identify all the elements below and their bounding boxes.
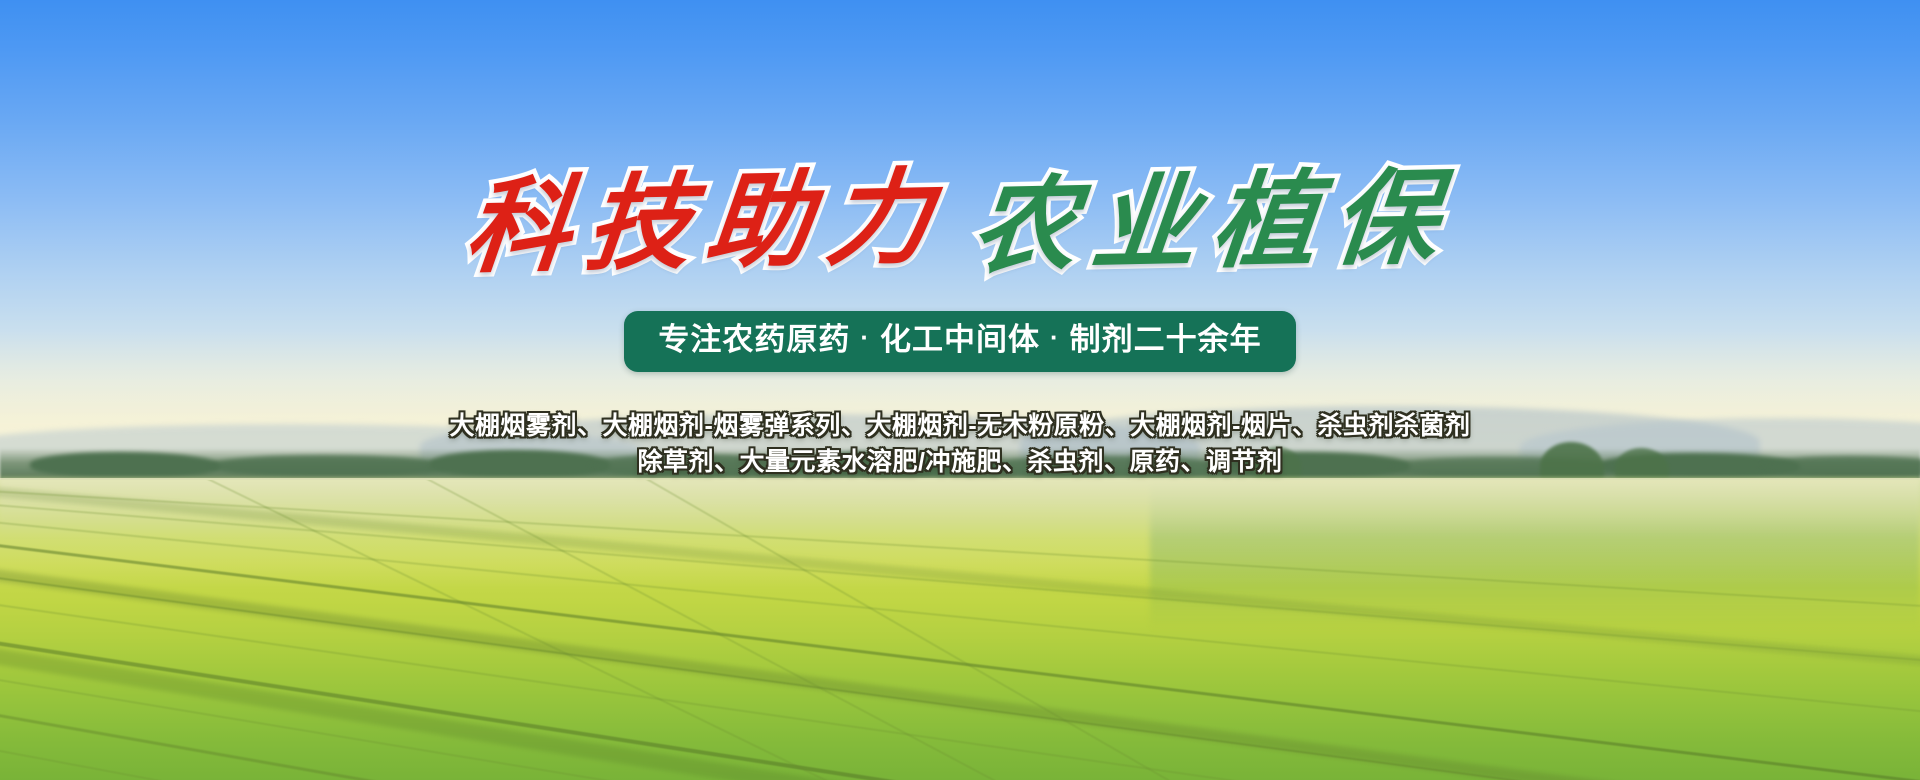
product-line: 除草剂、大量元素水溶肥/冲施肥、杀虫剂、原药、调节剂 — [0, 444, 1920, 480]
product-line: 大棚烟雾剂、大棚烟剂-烟雾弹系列、大棚烟剂-无木粉原粉、大棚烟剂-烟片、杀虫剂杀… — [0, 408, 1920, 444]
tagline-pill: 专注农药原药·化工中间体·制剂二十余年 — [624, 311, 1295, 372]
headline: 科技助力农业植保 — [0, 166, 1920, 278]
field-tramlines — [0, 480, 1920, 780]
tagline-pill-wrapper: 专注农药原药·化工中间体·制剂二十余年 — [0, 311, 1920, 372]
promo-banner: 科技助力农业植保 专注农药原药·化工中间体·制剂二十余年 大棚烟雾剂、大棚烟剂-… — [0, 0, 1920, 780]
headline-red-text: 科技助力 — [461, 161, 954, 283]
headline-green-text: 农业植保 — [967, 161, 1460, 283]
tagline-segment-3: 制剂二十余年 — [1070, 322, 1262, 357]
tagline-segment-2: 化工中间体 — [880, 322, 1040, 357]
product-list: 大棚烟雾剂、大棚烟剂-烟雾弹系列、大棚烟剂-无木粉原粉、大棚烟剂-烟片、杀虫剂杀… — [0, 408, 1920, 480]
tagline-separator-icon: · — [1050, 321, 1060, 354]
tagline-segment-1: 专注农药原药 — [658, 322, 850, 357]
tagline-separator-icon: · — [860, 321, 870, 354]
